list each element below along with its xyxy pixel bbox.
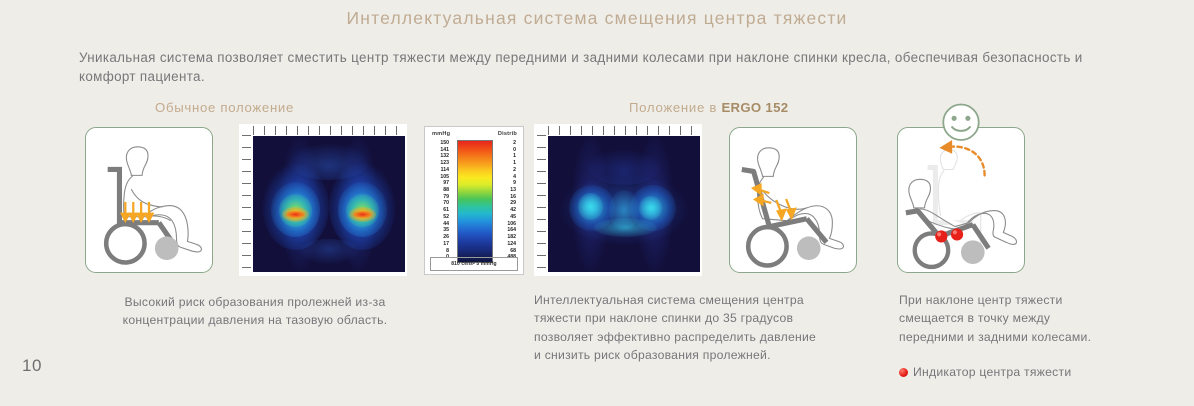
page-title: Интеллектуальная система смещения центра… bbox=[0, 8, 1194, 29]
label-ergo-position: Положение в ERGO 152 bbox=[629, 100, 788, 115]
caption-upright-line-1: Высокий риск образования пролежней из-за bbox=[90, 293, 420, 311]
legend-mmhg-tick: 141 bbox=[430, 147, 449, 154]
cog-legend-label: Индикатор центра тяжести bbox=[913, 365, 1071, 379]
caption-upright-line-2: концентрации давления на тазовую область… bbox=[90, 311, 420, 329]
upright-wheelchair-illustration bbox=[85, 127, 213, 273]
head-shape bbox=[126, 147, 148, 176]
legend-distrib-tick: 1 bbox=[497, 160, 516, 167]
legend-mmhg-tick: 17 bbox=[430, 241, 449, 248]
pmap1-plot bbox=[253, 136, 405, 272]
tilted-wheelchair-svg bbox=[730, 128, 856, 272]
pmap2-ruler-top bbox=[548, 126, 700, 135]
legend-distrib-tick: 13 bbox=[497, 187, 516, 194]
legend-mmhg-values: 1501411321231141059788797061524435261780 bbox=[430, 140, 449, 261]
legend-colorbar bbox=[457, 140, 493, 263]
pressure-map-tilted bbox=[534, 124, 702, 276]
legend-distrib-tick: 68 bbox=[497, 248, 516, 255]
rear-wheel bbox=[748, 227, 786, 265]
cog-svg bbox=[898, 128, 1024, 272]
legend-distrib-tick: 29 bbox=[497, 200, 516, 207]
tilted-wheelchair-illustration bbox=[729, 127, 857, 273]
legend-mmhg-tick: 8 bbox=[430, 248, 449, 255]
legend-mmhg-tick: 123 bbox=[430, 160, 449, 167]
legend-mmhg-tick: 70 bbox=[430, 200, 449, 207]
legend-distrib-tick: 16 bbox=[497, 194, 516, 201]
caption-ergo-line-2: тяжести при наклоне спинки до 35 градусо… bbox=[534, 309, 864, 327]
caption-cog-line-1: При наклоне центр тяжести bbox=[899, 291, 1179, 309]
center-of-gravity-illustration bbox=[897, 127, 1025, 273]
legend-distrib-tick: 45 bbox=[497, 214, 516, 221]
cog-legend-line: Индикатор центра тяжести bbox=[899, 364, 1179, 380]
front-wheel bbox=[155, 236, 179, 260]
legend-mmhg-tick: 105 bbox=[430, 174, 449, 181]
caption-cog: При наклоне центр тяжести смещается в то… bbox=[899, 291, 1179, 346]
head-shape bbox=[758, 148, 780, 177]
legend-header-mmhg: mmHg bbox=[432, 131, 450, 137]
legend-mmhg-tick: 44 bbox=[430, 221, 449, 228]
legend-header-distrib: Distrib bbox=[498, 131, 517, 137]
caption-ergo-line-1: Интеллектуальная система смещения центра bbox=[534, 291, 864, 309]
caption-cog-line-2: смещается в точку между bbox=[899, 309, 1179, 327]
legend-distrib-tick: 2 bbox=[497, 167, 516, 174]
legend-mmhg-tick: 79 bbox=[430, 194, 449, 201]
body-silhouette bbox=[758, 177, 844, 249]
front-wheel bbox=[797, 236, 821, 260]
head-shape bbox=[909, 179, 931, 208]
pmap2-ruler-left bbox=[537, 135, 546, 272]
smiley-face-icon bbox=[943, 105, 978, 140]
legend-distrib-tick: 124 bbox=[497, 241, 516, 248]
page-number: 10 bbox=[22, 356, 42, 376]
pressure-scale-legend: mmHg Distrib 150141132123114105978879706… bbox=[424, 126, 524, 275]
legend-footer: 810 cells• 5 mmHg bbox=[430, 257, 518, 271]
legend-distrib-tick: 42 bbox=[497, 207, 516, 214]
caption-ergo: Интеллектуальная система смещения центра… bbox=[534, 291, 864, 365]
label-normal-position: Обычное положение bbox=[155, 100, 294, 115]
legend-distrib-tick: 0 bbox=[497, 147, 516, 154]
cog-indicator-icon bbox=[899, 368, 908, 377]
rear-wheel bbox=[106, 224, 144, 262]
front-wheel bbox=[961, 240, 985, 264]
pressure-map-upright bbox=[239, 124, 407, 276]
legend-mmhg-tick: 132 bbox=[430, 153, 449, 160]
legend-distrib-values: 2011249131629424510616418212468488 bbox=[497, 140, 516, 261]
caption-ergo-line-3: позволяет эффективно распределить давлен… bbox=[534, 328, 864, 346]
upright-wheelchair-svg bbox=[86, 128, 212, 272]
caption-ergo-line-4: и снизить риск образования пролежней. bbox=[534, 346, 864, 364]
legend-distrib-tick: 182 bbox=[497, 234, 516, 241]
legend-mmhg-tick: 114 bbox=[430, 167, 449, 174]
legend-distrib-tick: 1 bbox=[497, 153, 516, 160]
legend-distrib-tick: 2 bbox=[497, 140, 516, 147]
pmap2-plot bbox=[548, 136, 700, 272]
label-ergo-prefix: Положение в bbox=[629, 100, 721, 115]
legend-mmhg-tick: 88 bbox=[430, 187, 449, 194]
caption-cog-line-3: передними и задними колесами. bbox=[899, 328, 1179, 346]
legend-mmhg-tick: 150 bbox=[430, 140, 449, 147]
legend-mmhg-tick: 97 bbox=[430, 180, 449, 187]
legend-distrib-tick: 164 bbox=[497, 227, 516, 234]
legend-mmhg-tick: 52 bbox=[430, 214, 449, 221]
caption-upright: Высокий риск образования пролежней из-за… bbox=[90, 293, 420, 330]
legend-distrib-tick: 9 bbox=[497, 180, 516, 187]
pmap1-ruler-top bbox=[253, 126, 405, 135]
legend-mmhg-tick: 35 bbox=[430, 227, 449, 234]
legend-mmhg-tick: 26 bbox=[430, 234, 449, 241]
pmap1-ruler-left bbox=[242, 135, 251, 272]
legend-distrib-tick: 4 bbox=[497, 174, 516, 181]
legend-distrib-tick: 106 bbox=[497, 221, 516, 228]
legend-mmhg-tick: 61 bbox=[430, 207, 449, 214]
label-ergo-model: ERGO 152 bbox=[721, 100, 788, 115]
page-subtitle: Уникальная система позволяет сместить це… bbox=[79, 48, 1124, 86]
slide-page: Интеллектуальная система смещения центра… bbox=[0, 0, 1194, 406]
